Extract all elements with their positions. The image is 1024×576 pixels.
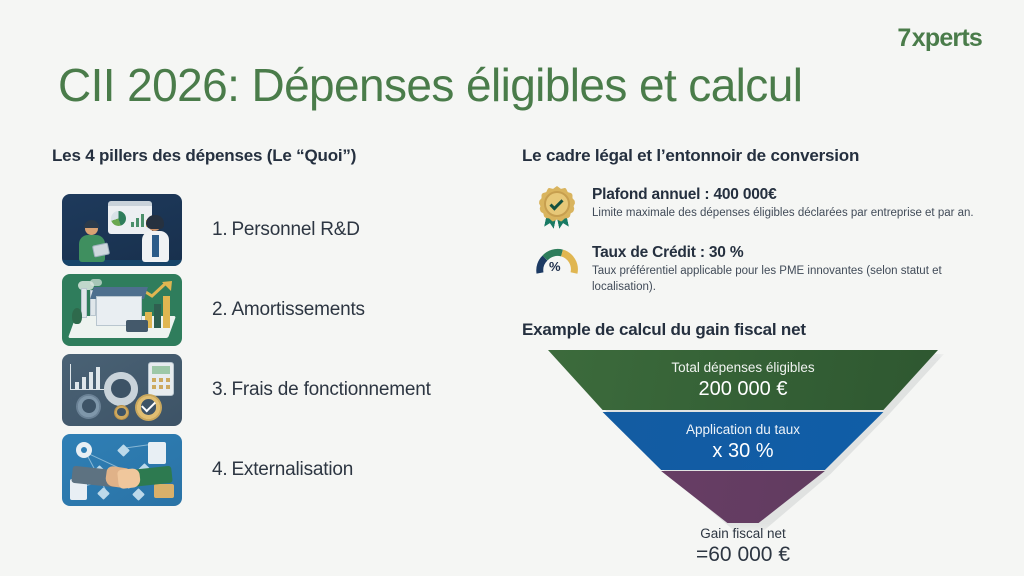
funnel-stage-value: 200 000 € xyxy=(548,378,938,401)
pillar-text: Amortissements xyxy=(231,299,364,321)
fact-title: Taux de Crédit : 30 % xyxy=(592,244,1004,262)
list-item: 4. Externalisation xyxy=(62,432,492,507)
percent-gauge-icon: % xyxy=(534,244,578,290)
pillar-label: 4. Externalisation xyxy=(212,459,353,481)
funnel-stage-net xyxy=(548,471,938,523)
pillar-text: Personnel R&D xyxy=(231,219,359,241)
fact-description: Limite maximale des dépenses éligibles d… xyxy=(592,206,974,222)
gears-calculator-image xyxy=(62,354,182,426)
pillar-number: 1. xyxy=(212,219,227,241)
funnel-heading: Example de calcul du gain fiscal net xyxy=(522,320,806,340)
factory-growth-chart-image xyxy=(62,274,182,346)
fact-item-plafond: Plafond annuel : 400 000€ Limite maximal… xyxy=(534,186,1004,232)
funnel-stage-total: Total dépenses éligibles 200 000 € xyxy=(548,350,938,410)
brand-logo: 7 xperts xyxy=(897,26,982,51)
list-item: 2. Amortissements xyxy=(62,272,492,347)
fact-title: Plafond annuel : 400 000€ xyxy=(592,186,974,204)
left-section-heading: Les 4 pillers des dépenses (Le “Quoi”) xyxy=(52,146,356,166)
percent-glyph: % xyxy=(549,259,561,274)
pillar-text: Frais de fonctionnement xyxy=(231,379,430,401)
fact-description: Taux préférentiel applicable pour les PM… xyxy=(592,264,1004,295)
logo-mark: 7 xyxy=(897,26,910,51)
pillar-label: 1. Personnel R&D xyxy=(212,219,360,241)
pillar-number: 4. xyxy=(212,459,227,481)
fact-item-taux: % Taux de Crédit : 30 % Taux préférentie… xyxy=(534,244,1004,295)
page-title: CII 2026: Dépenses éligibles et calcul xyxy=(58,58,802,112)
handshake-network-image xyxy=(62,434,182,506)
medal-check-icon xyxy=(534,186,578,232)
funnel-stage-label: Application du taux xyxy=(548,422,938,437)
list-item: 3. Frais de fonctionnement xyxy=(62,352,492,427)
pillar-text: Externalisation xyxy=(231,459,353,481)
funnel-stage-label: Total dépenses éligibles xyxy=(548,360,938,375)
right-section-heading: Le cadre légal et l’entonnoir de convers… xyxy=(522,146,859,166)
pillar-number: 3. xyxy=(212,379,227,401)
funnel-stage-value: x 30 % xyxy=(548,440,938,463)
logo-wordmark: xperts xyxy=(912,26,982,51)
funnel-net-label: Gain fiscal net xyxy=(548,526,938,541)
funnel-net-value: =60 000 € xyxy=(548,543,938,567)
funnel-net-result: Gain fiscal net =60 000 € xyxy=(548,526,938,567)
list-item: 1. Personnel R&D xyxy=(62,192,492,267)
pillars-list: 1. Personnel R&D 2. Amortissements xyxy=(62,192,492,512)
legal-facts-list: Plafond annuel : 400 000€ Limite maximal… xyxy=(534,186,1004,307)
pillar-number: 2. xyxy=(212,299,227,321)
researchers-with-charts-image xyxy=(62,194,182,266)
pillar-label: 2. Amortissements xyxy=(212,299,365,321)
conversion-funnel-chart: Total dépenses éligibles 200 000 € Appli… xyxy=(548,350,938,576)
pillar-label: 3. Frais de fonctionnement xyxy=(212,379,431,401)
slide: 7 xperts CII 2026: Dépenses éligibles et… xyxy=(0,0,1024,576)
